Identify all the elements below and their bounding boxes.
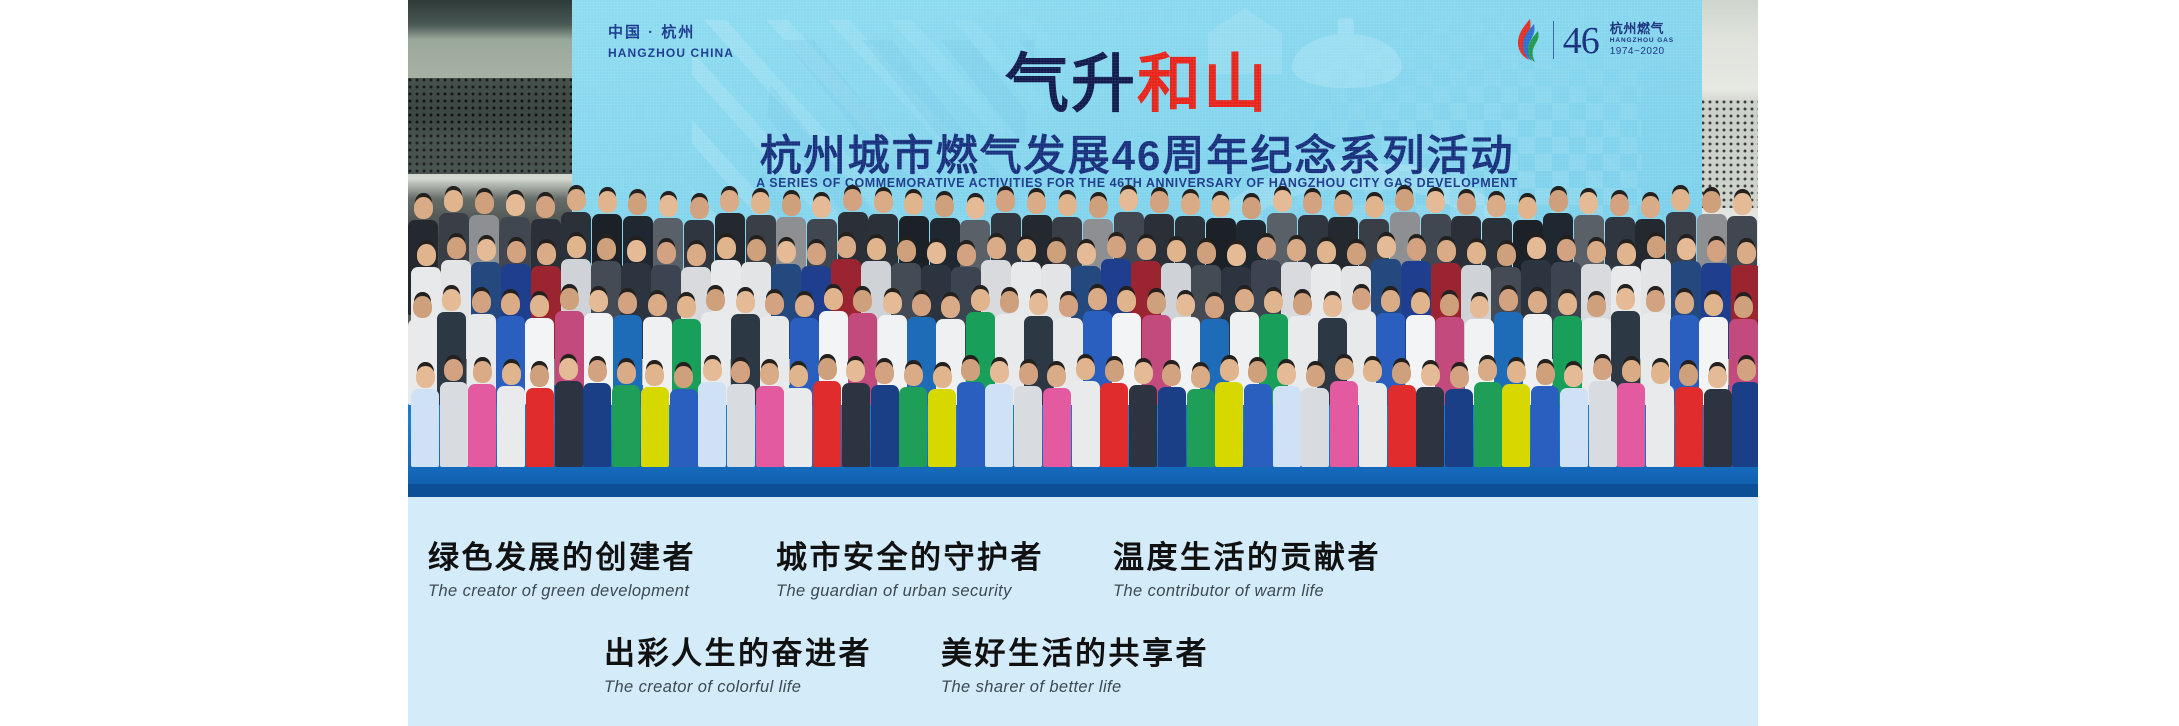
slogan-1: 绿色发展的创建者 The creator of green developmen… [428, 541, 696, 601]
person-head [1235, 289, 1254, 311]
person-head [1702, 191, 1721, 213]
person-body [1100, 383, 1128, 467]
person-body [1043, 388, 1071, 467]
person-head [618, 292, 637, 314]
person-head [706, 289, 725, 311]
person-head [442, 289, 461, 311]
photo-person [698, 359, 726, 467]
slogan-1-en: The creator of green development [428, 582, 696, 601]
slogan-2-cn: 城市安全的守护者 [776, 541, 1044, 575]
photo-person [1129, 362, 1157, 467]
person-body [1474, 382, 1502, 467]
person-head [1675, 292, 1694, 314]
person-head [1147, 292, 1166, 314]
person-head [674, 366, 693, 388]
photo-person [756, 363, 784, 467]
person-head [1117, 290, 1136, 312]
person-head [912, 294, 931, 316]
photo-person [899, 364, 927, 467]
person-body [842, 383, 870, 467]
photo-person [985, 361, 1013, 467]
person-head [559, 358, 578, 380]
person-head [588, 360, 607, 382]
photo-person [641, 364, 669, 467]
slogan-3-en: The contributor of warm life [1113, 582, 1381, 601]
person-head [413, 296, 432, 318]
person-head [1365, 196, 1384, 218]
person-head [1593, 358, 1612, 380]
photo-person [1617, 360, 1645, 467]
person-head [1527, 237, 1546, 259]
person-head [1017, 239, 1036, 261]
person-head [1737, 242, 1756, 264]
person-head [843, 189, 862, 211]
person-body [1704, 389, 1732, 467]
photo-person [1072, 358, 1100, 467]
person-head [1211, 195, 1230, 217]
person-head [941, 296, 960, 318]
person-head [1352, 288, 1371, 310]
person-head [904, 193, 923, 215]
person-head [1704, 294, 1723, 316]
person-head [824, 288, 843, 310]
person-head [417, 244, 436, 266]
person-body [1388, 385, 1416, 467]
person-head [807, 243, 826, 265]
photo-person [583, 360, 611, 467]
person-head [1181, 193, 1200, 215]
photo-person [1704, 366, 1732, 467]
photo-person [957, 359, 985, 467]
person-head [933, 366, 952, 388]
person-body [670, 389, 698, 467]
person-body [899, 387, 927, 467]
slogan-5-cn: 美好生活的共享者 [941, 637, 1209, 671]
person-head [1000, 291, 1019, 313]
slogan-4-en: The creator of colorful life [604, 678, 872, 697]
person-head [1334, 194, 1353, 216]
person-head [765, 293, 784, 315]
person-head [1107, 236, 1126, 258]
person-head [1273, 190, 1292, 212]
person-body [1416, 387, 1444, 467]
person-head [935, 195, 954, 217]
person-head [1487, 195, 1506, 217]
slogan-5: 美好生活的共享者 The sharer of better life [941, 637, 1209, 697]
person-head [648, 294, 667, 316]
slogan-panel: 绿色发展的创建者 The creator of green developmen… [408, 497, 1758, 726]
photo-person [1531, 363, 1559, 467]
person-body [526, 388, 554, 467]
person-head [990, 361, 1009, 383]
person-head [1421, 364, 1440, 386]
person-head [1167, 240, 1186, 262]
photo-person [1273, 363, 1301, 467]
person-body [1158, 387, 1186, 467]
person-head [1587, 295, 1606, 317]
person-head [751, 192, 770, 214]
person-head [1407, 238, 1426, 260]
photo-person [468, 361, 496, 467]
photo-person [670, 366, 698, 467]
person-head [1426, 191, 1445, 213]
person-head [567, 236, 586, 258]
person-head [1363, 360, 1382, 382]
person-head [1677, 238, 1696, 260]
person-head [966, 197, 985, 219]
photo-person [842, 360, 870, 467]
person-head [736, 291, 755, 313]
person-head [472, 291, 491, 313]
person-body [813, 381, 841, 467]
person-head [657, 242, 676, 264]
person-head [904, 364, 923, 386]
person-head [971, 289, 990, 311]
person-head [1651, 362, 1670, 384]
person-body [784, 388, 812, 467]
person-body [1301, 388, 1329, 467]
person-head [1257, 237, 1276, 259]
person-head [1150, 191, 1169, 213]
person-head [1622, 360, 1641, 382]
person-head [414, 197, 433, 219]
person-head [501, 293, 520, 315]
person-head [628, 193, 647, 215]
person-head [1220, 359, 1239, 381]
person-head [1306, 365, 1325, 387]
person-head [795, 295, 814, 317]
photo-person [1359, 360, 1387, 467]
person-head [677, 296, 696, 318]
person-head [1317, 241, 1336, 263]
person-body [555, 381, 583, 467]
photo-person [1330, 358, 1358, 467]
person-head [1277, 363, 1296, 385]
person-head [567, 189, 586, 211]
person-body [1215, 382, 1243, 467]
person-head [1377, 236, 1396, 258]
person-body [985, 384, 1013, 467]
person-head [598, 191, 617, 213]
person-head [560, 288, 579, 310]
person-body [1330, 381, 1358, 467]
slogan-2-en: The guardian of urban security [776, 582, 1044, 601]
person-body [612, 385, 640, 467]
person-head [1734, 296, 1753, 318]
person-head [720, 190, 739, 212]
photo-person [1445, 366, 1473, 467]
person-head [1105, 360, 1124, 382]
person-head [1497, 244, 1516, 266]
person-head [1197, 242, 1216, 264]
person-head [1616, 288, 1635, 310]
person-head [690, 197, 709, 219]
person-head [1647, 236, 1666, 258]
photo-person [1187, 366, 1215, 467]
person-head [846, 360, 865, 382]
photo-person [555, 358, 583, 467]
person-head [1610, 194, 1629, 216]
person-head [1019, 363, 1038, 385]
group-photo-crowd [408, 0, 1758, 497]
person-head [1058, 194, 1077, 216]
person-head [703, 359, 722, 381]
photo-person [1474, 359, 1502, 467]
person-head [1564, 365, 1583, 387]
person-body [1675, 387, 1703, 467]
person-head [537, 243, 556, 265]
person-head [961, 359, 980, 381]
person-head [1528, 291, 1547, 313]
person-head [1646, 290, 1665, 312]
person-head [1478, 359, 1497, 381]
person-head [1134, 362, 1153, 384]
person-head [789, 365, 808, 387]
person-head [475, 192, 494, 214]
person-head [1395, 189, 1414, 211]
person-head [760, 363, 779, 385]
person-head [687, 244, 706, 266]
photo-person [1215, 359, 1243, 467]
photo-person [1244, 361, 1272, 467]
person-head [957, 244, 976, 266]
person-head [1205, 296, 1224, 318]
person-head [1089, 196, 1108, 218]
photo-person [1014, 363, 1042, 467]
slogan-4-cn: 出彩人生的奋进者 [604, 637, 872, 671]
person-head [1303, 192, 1322, 214]
person-head [1457, 193, 1476, 215]
person-head [1450, 366, 1469, 388]
person-head [867, 238, 886, 260]
person-head [1088, 288, 1107, 310]
person-body [1072, 381, 1100, 467]
person-head [1047, 365, 1066, 387]
person-body [1732, 382, 1758, 467]
person-head [1392, 362, 1411, 384]
person-body [1531, 386, 1559, 467]
person-body [468, 384, 496, 467]
person-head [1737, 359, 1756, 381]
photo-person [612, 362, 640, 467]
person-head [987, 237, 1006, 259]
person-body [440, 382, 468, 467]
person-head [645, 364, 664, 386]
person-head [1323, 295, 1342, 317]
photo-person [1416, 364, 1444, 467]
photo-person [1301, 365, 1329, 467]
photo-person [1589, 358, 1617, 467]
person-head [444, 190, 463, 212]
photo-person [1675, 364, 1703, 467]
photo-person [1646, 362, 1674, 467]
slogan-5-en: The sharer of better life [941, 678, 1209, 697]
group-photo: 中国 · 杭州 HANGZHOU CHINA 46 杭州燃气 HANGZHOU … [408, 0, 1758, 497]
photo-person [813, 358, 841, 467]
person-head [1077, 243, 1096, 265]
person-body [1445, 389, 1473, 467]
person-head [996, 190, 1015, 212]
person-body [411, 389, 439, 467]
person-head [617, 362, 636, 384]
photo-person [1388, 362, 1416, 467]
person-head [1029, 293, 1048, 315]
person-head [1191, 366, 1210, 388]
person-head [1558, 293, 1577, 315]
person-head [1671, 189, 1690, 211]
slogan-3: 温度生活的贡献者 The contributor of warm life [1113, 541, 1381, 601]
person-head [1708, 366, 1727, 388]
slogan-1-cn: 绿色发展的创建者 [428, 541, 696, 575]
person-head [1707, 240, 1726, 262]
person-head [1641, 196, 1660, 218]
person-body [756, 386, 784, 467]
person-head [927, 242, 946, 264]
person-head [875, 362, 894, 384]
person-head [1076, 358, 1095, 380]
person-body [1244, 384, 1272, 467]
person-head [1437, 240, 1456, 262]
person-head [1679, 364, 1698, 386]
photo-person [440, 359, 468, 467]
person-head [477, 239, 496, 261]
person-body [698, 382, 726, 467]
poster-content-column: 中国 · 杭州 HANGZHOU CHINA 46 杭州燃气 HANGZHOU … [408, 0, 1758, 726]
slogan-3-cn: 温度生活的贡献者 [1113, 541, 1381, 575]
person-head [1242, 197, 1261, 219]
person-head [853, 290, 872, 312]
person-body [1014, 386, 1042, 467]
person-head [1027, 192, 1046, 214]
person-head [589, 290, 608, 312]
person-head [874, 191, 893, 213]
person-head [530, 295, 549, 317]
person-head [1470, 296, 1489, 318]
person-body [1273, 386, 1301, 467]
person-head [1137, 238, 1156, 260]
person-head [1347, 243, 1366, 265]
person-head [1467, 242, 1486, 264]
person-head [731, 361, 750, 383]
person-head [473, 361, 492, 383]
person-head [1518, 197, 1537, 219]
person-head [1733, 193, 1752, 215]
photo-person [497, 363, 525, 467]
person-body [1129, 385, 1157, 467]
person-head [1579, 192, 1598, 214]
person-head [1587, 241, 1606, 263]
person-head [1162, 364, 1181, 386]
person-head [1176, 294, 1195, 316]
person-body [1646, 385, 1674, 467]
person-head [1557, 239, 1576, 261]
person-body [641, 387, 669, 467]
person-body [928, 389, 956, 467]
person-body [727, 384, 755, 467]
photo-person [411, 366, 439, 467]
photo-person [1158, 364, 1186, 467]
person-head [1047, 241, 1066, 263]
person-head [416, 366, 435, 388]
person-head [444, 359, 463, 381]
person-head [536, 196, 555, 218]
person-head [1549, 190, 1568, 212]
photo-person [1502, 361, 1530, 467]
person-head [507, 241, 526, 263]
photo-person [1043, 365, 1071, 467]
person-head [1248, 361, 1267, 383]
person-head [1059, 295, 1078, 317]
person-head [1536, 363, 1555, 385]
person-body [1187, 389, 1215, 467]
person-head [1617, 243, 1636, 265]
person-head [897, 240, 916, 262]
photo-person [784, 365, 812, 467]
person-head [782, 194, 801, 216]
person-body [1502, 384, 1530, 467]
person-head [1499, 289, 1518, 311]
photo-person [1560, 365, 1588, 467]
screenshot-canvas: 中国 · 杭州 HANGZHOU CHINA 46 杭州燃气 HANGZHOU … [0, 0, 2179, 726]
slogan-4: 出彩人生的奋进者 The creator of colorful life [604, 637, 872, 697]
person-head [747, 239, 766, 261]
person-head [659, 195, 678, 217]
person-body [583, 383, 611, 467]
person-head [812, 196, 831, 218]
person-head [1335, 358, 1354, 380]
person-head [1264, 291, 1283, 313]
person-head [818, 358, 837, 380]
slogan-2: 城市安全的守护者 The guardian of urban security [776, 541, 1044, 601]
person-head [883, 292, 902, 314]
person-head [1440, 294, 1459, 316]
person-head [1507, 361, 1526, 383]
person-head [502, 363, 521, 385]
person-head [530, 365, 549, 387]
photo-person [1732, 359, 1758, 467]
person-head [717, 237, 736, 259]
person-head [837, 236, 856, 258]
person-body [497, 386, 525, 467]
person-head [777, 241, 796, 263]
person-head [1293, 293, 1312, 315]
person-head [1381, 290, 1400, 312]
person-body [957, 382, 985, 467]
person-body [1359, 383, 1387, 467]
person-head [506, 194, 525, 216]
person-head [1287, 239, 1306, 261]
person-head [597, 238, 616, 260]
person-head [1227, 244, 1246, 266]
photo-person [871, 362, 899, 467]
photo-person [1100, 360, 1128, 467]
person-head [447, 237, 466, 259]
person-body [1589, 381, 1617, 467]
photo-person [727, 361, 755, 467]
photo-person [928, 366, 956, 467]
person-body [871, 385, 899, 467]
photo-person [526, 365, 554, 467]
person-head [1119, 189, 1138, 211]
person-head [627, 240, 646, 262]
person-body [1560, 388, 1588, 467]
person-head [1411, 292, 1430, 314]
person-body [1617, 383, 1645, 467]
